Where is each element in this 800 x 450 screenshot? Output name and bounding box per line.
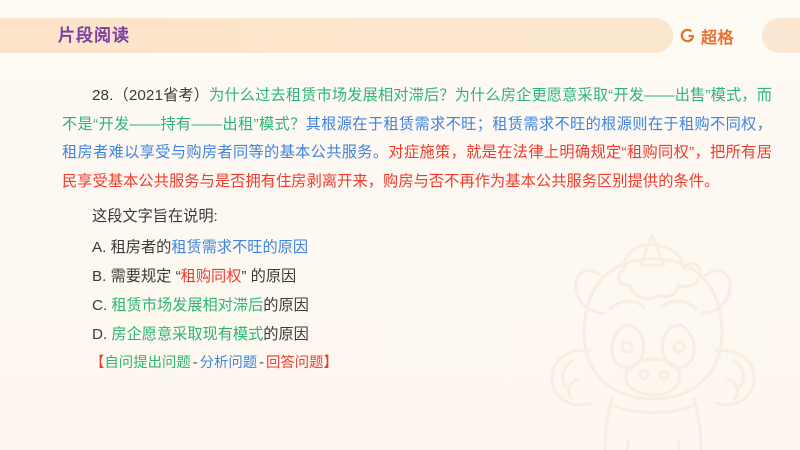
- option-d-part-1: 房企愿意采取现有模式: [111, 326, 263, 343]
- tagline-separator-1: -: [191, 355, 200, 371]
- tagline-item-3: 回答问题: [266, 355, 324, 371]
- option-d[interactable]: D. 房企愿意采取现有模式的原因: [92, 320, 772, 349]
- option-b-part-2: 租购同权: [181, 268, 242, 285]
- option-c[interactable]: C. 租赁市场发展相对滞后的原因: [92, 291, 772, 320]
- analysis-tagline: 【自问提出问题-分析问题-回答问题】: [0, 350, 800, 376]
- page-header: 片段阅读 超格: [0, 18, 800, 53]
- tagline-separator-2: -: [257, 355, 266, 371]
- option-d-part-2: 的原因: [263, 326, 309, 343]
- question-number: 28.: [92, 87, 113, 104]
- option-c-part-2: 的原因: [263, 297, 309, 314]
- question-source: （2021省考）: [113, 87, 209, 104]
- option-a-part-1: 租房者的: [111, 239, 172, 256]
- option-b[interactable]: B. 需要规定 “租购同权” 的原因: [92, 262, 772, 291]
- tagline-close-bracket: 】: [324, 355, 338, 371]
- option-a-part-2: 租赁需求不旺的原因: [171, 239, 308, 256]
- brand-name: 超格: [701, 24, 734, 48]
- option-b-part-3: ” 的原因: [241, 268, 296, 285]
- g-circle-logo-icon: [679, 27, 696, 44]
- tagline-item-2: 分析问题: [200, 355, 258, 371]
- options-list: A. 租房者的租赁需求不旺的原因 B. 需要规定 “租购同权” 的原因 C. 租…: [0, 233, 800, 349]
- question-stem: 这段文字旨在说明:: [0, 202, 800, 231]
- option-b-letter: B.: [92, 268, 106, 285]
- brand-logo: 超格: [679, 18, 734, 53]
- tagline-open-bracket: 【: [90, 355, 104, 371]
- option-c-part-1: 租赁市场发展相对滞后: [111, 297, 263, 314]
- page-background: 片段阅读 超格 28.（2021省考）为什么过去租赁市场发展相对滞后？为什么房企…: [0, 0, 800, 450]
- option-b-part-1: 需要规定 “: [111, 268, 181, 285]
- header-band-right: [762, 18, 800, 53]
- question-paragraph: 28.（2021省考）为什么过去租赁市场发展相对滞后？为什么房企更愿意采取“开发…: [0, 82, 800, 196]
- tagline-item-1: 自问提出问题: [104, 355, 190, 371]
- question-content: 28.（2021省考）为什么过去租赁市场发展相对滞后？为什么房企更愿意采取“开发…: [0, 82, 800, 376]
- option-d-letter: D.: [92, 326, 107, 343]
- option-a[interactable]: A. 租房者的租赁需求不旺的原因: [92, 233, 772, 262]
- option-c-letter: C.: [92, 297, 107, 314]
- page-title: 片段阅读: [58, 18, 130, 53]
- option-a-letter: A.: [92, 239, 106, 256]
